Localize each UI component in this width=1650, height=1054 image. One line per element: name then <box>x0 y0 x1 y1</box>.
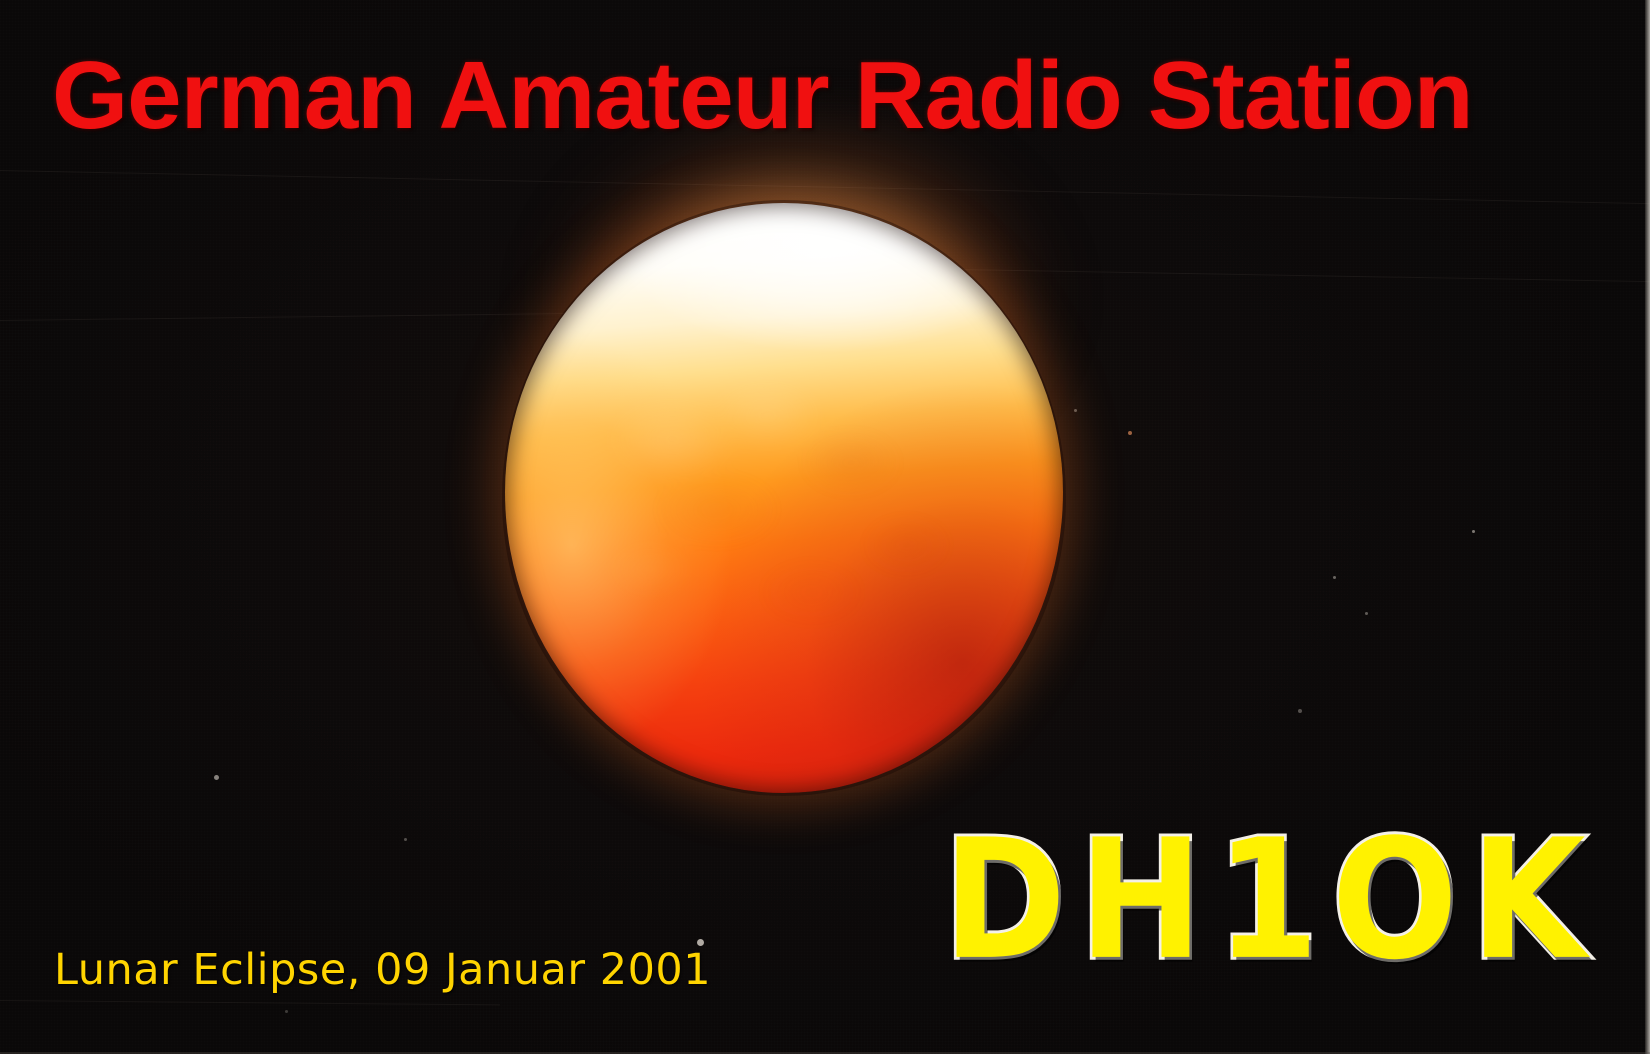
star-speck <box>1365 612 1368 615</box>
moon-edge-softening <box>502 200 1066 796</box>
star-speck <box>1128 431 1132 435</box>
star-speck <box>1333 576 1336 579</box>
star-speck <box>214 775 219 780</box>
star-speck <box>1298 709 1302 713</box>
photo-caption: Lunar Eclipse, 09 Januar 2001 <box>54 949 711 992</box>
page-title: German Amateur Radio Station <box>52 48 1643 144</box>
scan-edge-right <box>1645 0 1650 1054</box>
star-speck <box>285 1010 288 1013</box>
qsl-card: German Amateur Radio Station DH1OK Lunar… <box>0 0 1650 1054</box>
star-speck <box>1472 530 1475 533</box>
moon-disc <box>505 203 1063 793</box>
star-speck <box>404 838 407 841</box>
lunar-eclipse-photo <box>505 203 1063 793</box>
callsign-text: DH1OK <box>943 819 1598 984</box>
star-speck <box>1074 409 1077 412</box>
